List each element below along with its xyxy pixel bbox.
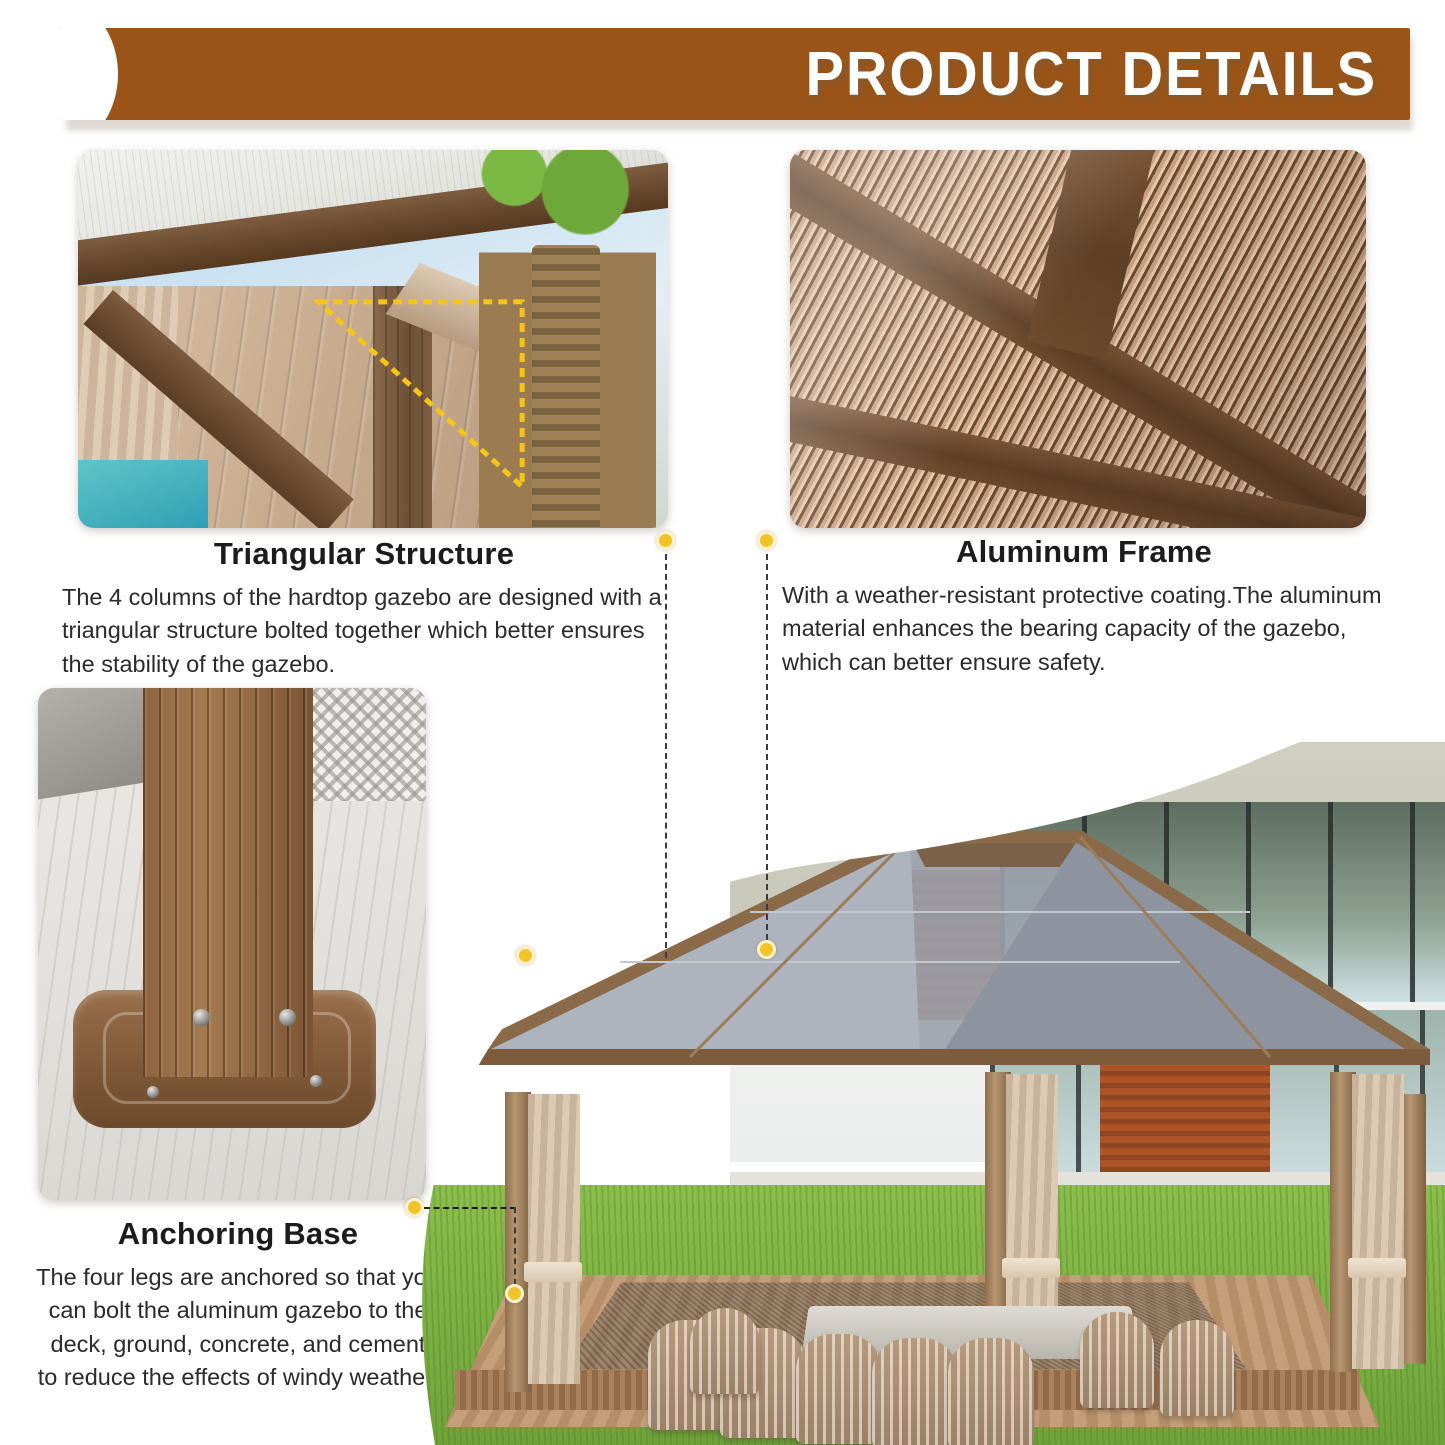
anchor-hole [147,1086,159,1098]
caption-line: With a weather-resistant protective coat… [782,579,1386,612]
banner-notch-shape [60,28,118,120]
dining-chair [872,1338,958,1445]
product-details-infographic: PRODUCT DETAILS [0,0,1445,1445]
dining-chair [1080,1312,1154,1408]
main-gazebo-scene [400,742,1445,1445]
anchoring-base-image [38,688,426,1200]
page-title: PRODUCT DETAILS [805,39,1410,110]
connector-line-aluminum [766,544,768,950]
curtain-tieback-right [1348,1258,1406,1278]
connector-line-anchor-horizontal [424,1207,516,1209]
dining-chair [1160,1320,1234,1416]
caption-body: The four legs are anchored so that you c… [28,1261,448,1394]
callout-dot-aluminum-target [757,940,776,959]
curtain-tieback-mid [1002,1258,1060,1278]
header-banner: PRODUCT DETAILS [0,28,1445,128]
caption-line: can bolt the aluminum gazebo to the [28,1294,448,1327]
gazebo-curtain-right [1352,1074,1404,1369]
caption-line: triangular structure bolted together whi… [62,614,666,647]
dining-chair [796,1334,882,1444]
caption-line: The 4 columns of the hardtop gazebo are … [62,581,666,614]
caption-line: The four legs are anchored so that you [28,1261,448,1294]
callout-dot-anchor-origin [405,1198,424,1217]
aluminum-frame-image [790,150,1366,528]
anchor-bolt [193,1009,210,1026]
dining-chair [948,1338,1034,1445]
metal-sheen [790,150,1366,528]
caption-line: the stability of the gazebo. [62,648,666,681]
connector-line-anchor-vertical [514,1207,516,1295]
pool-water [78,460,208,528]
caption-line: material enhances the bearing capacity o… [782,612,1386,645]
caption-aluminum-frame: Aluminum Frame With a weather-resistant … [782,534,1386,679]
caption-line: to reduce the effects of windy weather. [28,1361,448,1394]
callout-dot-aluminum-top [757,531,776,550]
caption-title: Aluminum Frame [782,534,1386,570]
caption-body: The 4 columns of the hardtop gazebo are … [62,581,666,681]
caption-triangular-structure: Triangular Structure The 4 columns of th… [62,536,666,681]
anchor-bolt [279,1009,296,1026]
gazebo-hardtop-roof [420,827,1430,1107]
caption-body: With a weather-resistant protective coat… [782,579,1386,679]
caption-anchoring-base: Anchoring Base The four legs are anchore… [28,1216,448,1394]
callout-dot-anchor-target [505,1284,524,1303]
triangular-structure-image [78,150,668,528]
callout-dot-triangular-target [516,946,535,965]
dining-chair [690,1308,760,1394]
caption-line: which can better ensure safety. [782,646,1386,679]
caption-title: Triangular Structure [62,536,666,572]
callout-dot-triangular-top [656,531,675,550]
gazebo-curtain-left [528,1094,580,1384]
anchor-hole [310,1075,322,1087]
connector-line-triangular [665,544,667,958]
caption-line: deck, ground, concrete, and cement [28,1328,448,1361]
caption-title: Anchoring Base [28,1216,448,1252]
triangle-highlight-overlay [314,294,526,491]
banner-bar: PRODUCT DETAILS [60,28,1410,120]
background-lantern [310,688,426,801]
curtain-tieback-left [524,1262,582,1282]
